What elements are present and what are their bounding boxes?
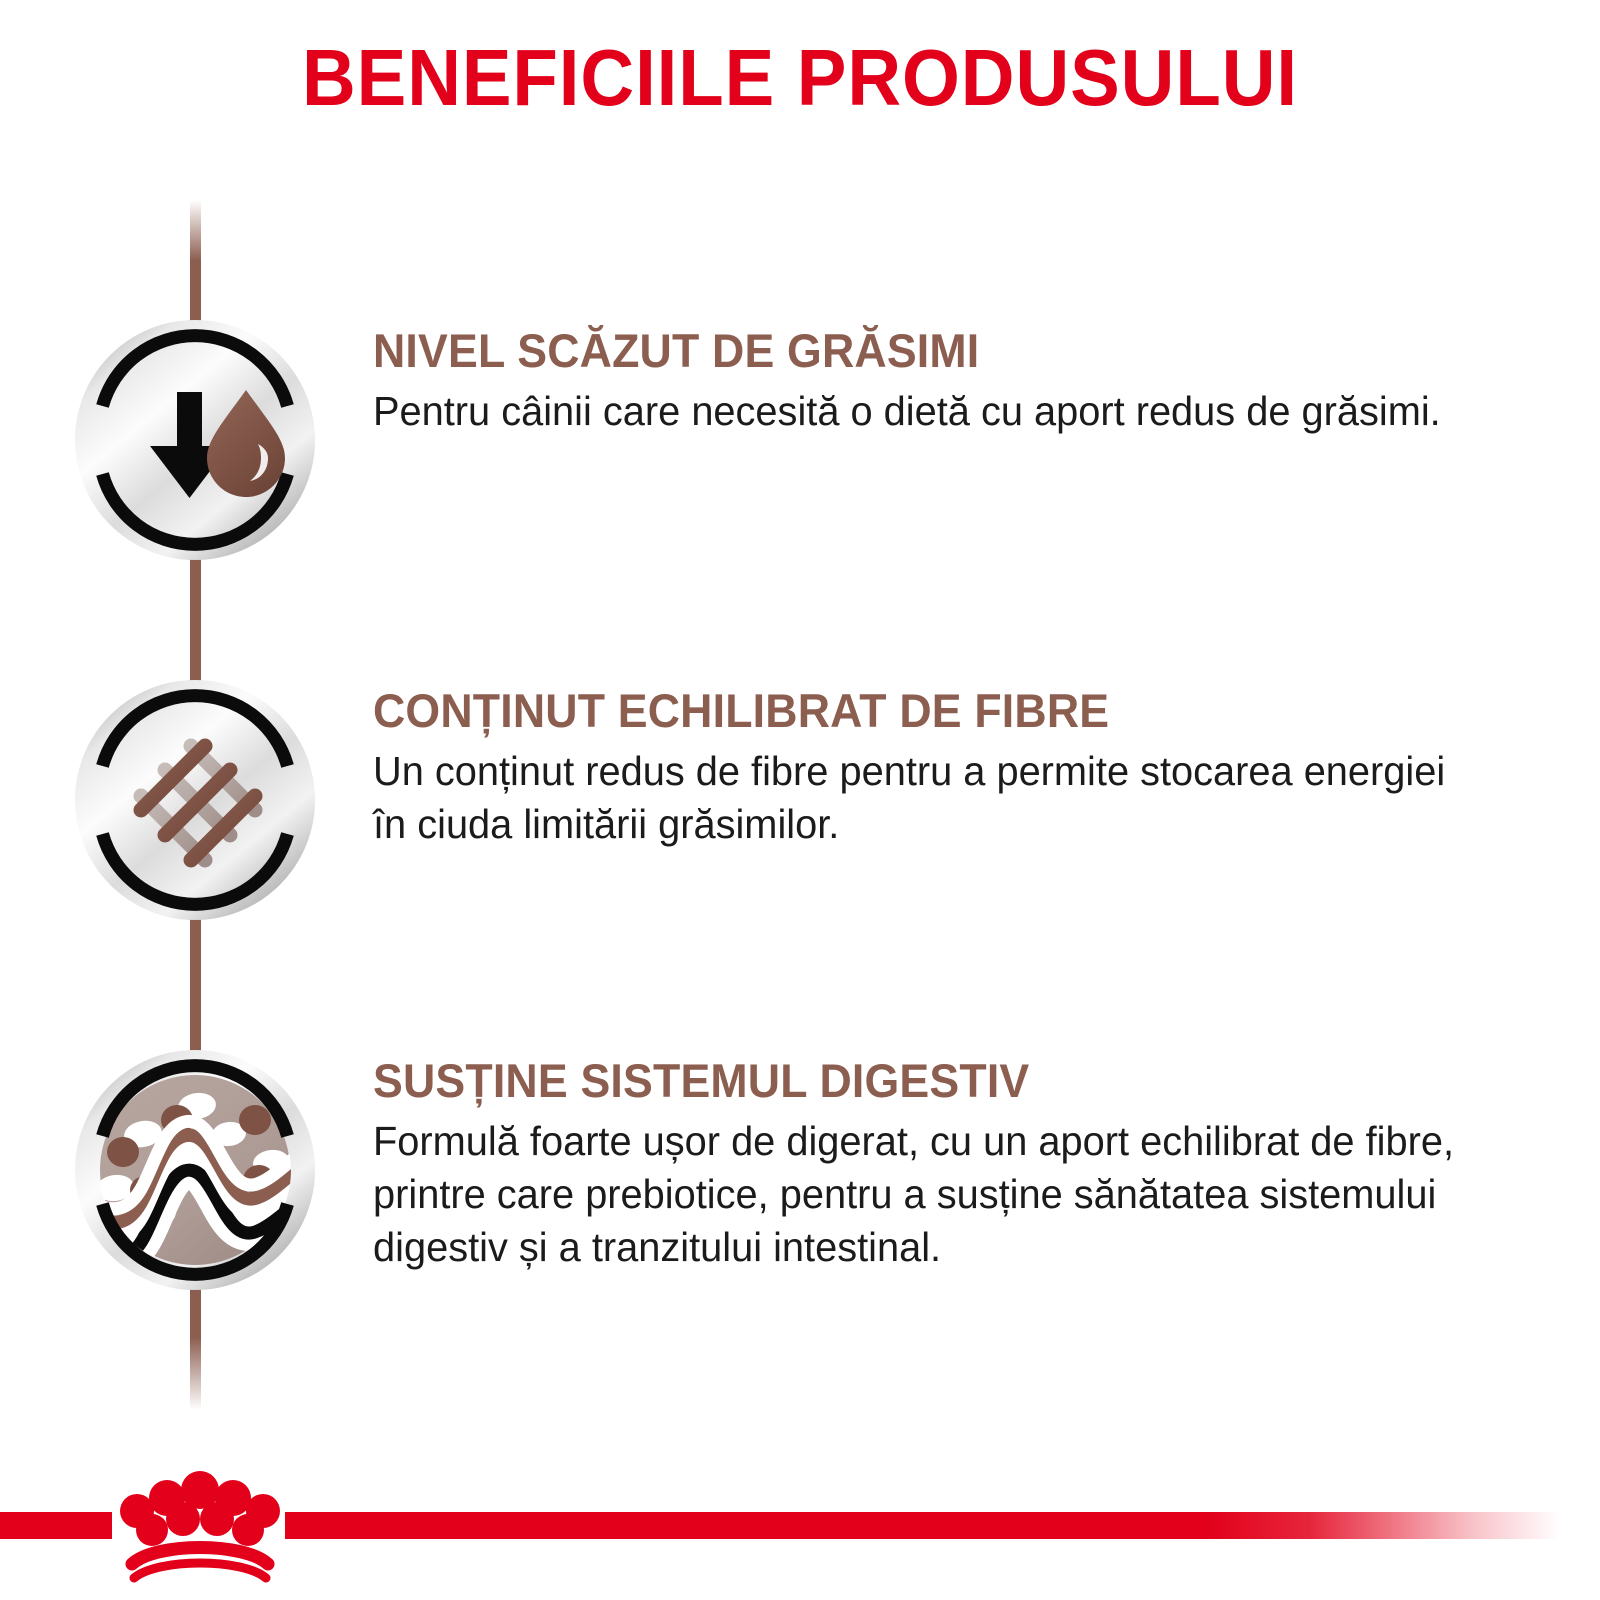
benefit-body: Un conținut redus de fibre pentru a perm… bbox=[373, 745, 1487, 852]
benefit-body: Formulă foarte ușor de digerat, cu un ap… bbox=[373, 1115, 1487, 1275]
benefit-heading: NIVEL SCĂZUT DE GRĂSIMI bbox=[373, 326, 1464, 376]
benefit-text-block: SUSȚINE SISTEMUL DIGESTIV Formulă foarte… bbox=[373, 1048, 1521, 1275]
benefit-body: Pentru câinii care necesită o dietă cu a… bbox=[373, 385, 1487, 438]
page-title: BENEFICIILE PRODUSULUI bbox=[56, 36, 1544, 120]
footer-bar-left bbox=[0, 1512, 112, 1539]
balanced-fibre-icon bbox=[73, 678, 317, 922]
product-benefits-page: BENEFICIILE PRODUSULUI bbox=[0, 0, 1600, 1600]
digestive-support-icon bbox=[73, 1048, 317, 1292]
benefit-item-low-fat: NIVEL SCĂZUT DE GRĂSIMI Pentru câinii ca… bbox=[0, 318, 1600, 562]
footer-bar-right bbox=[285, 1512, 1600, 1539]
footer bbox=[0, 1440, 1600, 1600]
benefit-item-digestive-support: SUSȚINE SISTEMUL DIGESTIV Formulă foarte… bbox=[0, 1048, 1600, 1292]
benefit-item-balanced-fibre: CONȚINUT ECHILIBRAT DE FIBRE Un conținut… bbox=[0, 678, 1600, 922]
benefit-text-block: NIVEL SCĂZUT DE GRĂSIMI Pentru câinii ca… bbox=[373, 318, 1521, 438]
benefit-heading: SUSȚINE SISTEMUL DIGESTIV bbox=[373, 1056, 1464, 1106]
benefit-text-block: CONȚINUT ECHILIBRAT DE FIBRE Un conținut… bbox=[373, 678, 1521, 851]
royal-canin-crown-logo bbox=[112, 1466, 288, 1586]
low-fat-icon bbox=[73, 318, 317, 562]
benefit-heading: CONȚINUT ECHILIBRAT DE FIBRE bbox=[373, 686, 1464, 736]
